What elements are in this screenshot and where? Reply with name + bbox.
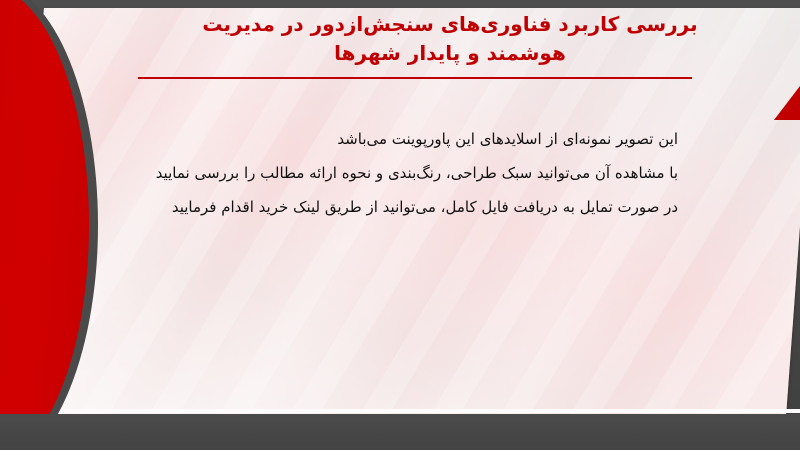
- body-line-3: در صورت تمایل به دریافت فایل کامل، می‌تو…: [100, 190, 678, 224]
- red-lens-shape: [0, 0, 98, 450]
- slide-body-text: این تصویر نمونه‌ای از اسلایدهای این پاور…: [100, 122, 678, 224]
- title-underline: [138, 77, 692, 79]
- body-line-1: این تصویر نمونه‌ای از اسلایدهای این پاور…: [100, 122, 678, 156]
- body-line-2: با مشاهده آن می‌توانید سبک طراحی، رنگ‌بن…: [100, 156, 678, 190]
- slide-title-line-1: بررسی کاربرد فناوری‌های سنجش‌ازدور در مد…: [120, 10, 780, 39]
- panel-bottom-edge: [40, 409, 800, 413]
- bottom-bar: [0, 414, 800, 450]
- red-lens-fill: [0, 0, 89, 450]
- slide-title-line-2: هوشمند و پایدار شهرها: [120, 39, 780, 68]
- slide-canvas: بررسی کاربرد فناوری‌های سنجش‌ازدور در مد…: [0, 0, 800, 450]
- slide-title: بررسی کاربرد فناوری‌های سنجش‌ازدور در مد…: [120, 10, 780, 68]
